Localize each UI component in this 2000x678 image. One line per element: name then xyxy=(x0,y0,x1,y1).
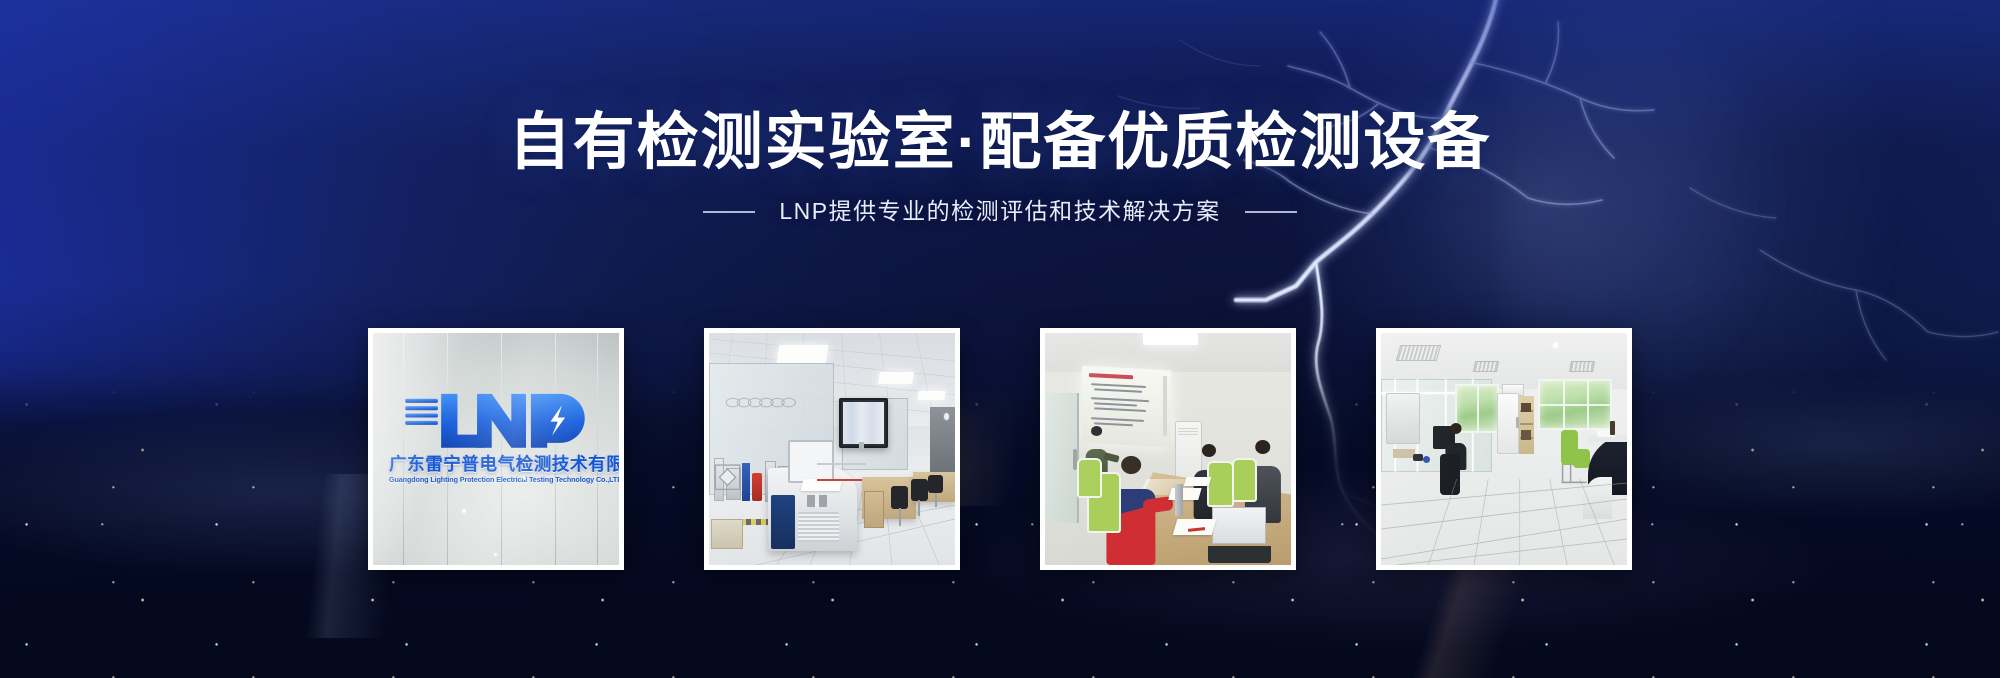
meeting-chair-right xyxy=(1232,458,1257,502)
lab-diamond-fixture-icon xyxy=(714,461,741,493)
photo-testing-laboratory[interactable] xyxy=(704,328,960,570)
lab-trolley xyxy=(711,519,743,549)
laptop-keyboard xyxy=(1208,546,1271,563)
office-floor-grid xyxy=(1381,333,1627,565)
subtitle-row: LNP提供专业的检测评估和技术解决方案 xyxy=(0,200,2000,223)
thermos-cup xyxy=(1175,484,1182,516)
lab-wall-monitor xyxy=(839,398,887,448)
table-document-2 xyxy=(1169,488,1202,500)
lab-chair-2 xyxy=(911,479,928,516)
lab-ceiling-light-3 xyxy=(917,391,946,400)
meeting-ceiling-light xyxy=(1143,333,1197,345)
photo-meeting-room[interactable] xyxy=(1040,328,1296,570)
lab-chair-1 xyxy=(891,486,908,525)
table-document-1 xyxy=(1173,519,1217,535)
sign-wall-sheen xyxy=(373,333,619,565)
photo-meeting-canvas xyxy=(1045,333,1291,565)
lab-ceiling-light-2 xyxy=(878,372,914,384)
photo-office[interactable] xyxy=(1376,328,1632,570)
lab-chair-3 xyxy=(928,475,943,507)
lab-ceiling-light-1 xyxy=(776,345,828,364)
lab-desk-handles xyxy=(807,495,827,507)
photo-company-sign-canvas: 广东雷宁普电气检测技术有限公司 Guangdong Lighting Prote… xyxy=(373,333,619,565)
hero-banner: 自有检测实验室·配备优质检测设备 LNP提供专业的检测评估和技术解决方案 xyxy=(0,0,2000,678)
lab-desk-papers xyxy=(801,479,843,491)
page-title: 自有检测实验室·配备优质检测设备 xyxy=(0,112,2000,174)
laptop-screen xyxy=(1212,507,1266,544)
lab-monitor-screen xyxy=(843,402,883,444)
photo-gallery-strip: 广东雷宁普电气检测技术有限公司 Guangdong Lighting Prote… xyxy=(328,312,1672,554)
ac-vent-icon xyxy=(1178,428,1198,437)
meeting-chair-left xyxy=(1077,458,1102,497)
lab-monitor-mount xyxy=(859,442,864,451)
subtitle-rule-right xyxy=(1245,211,1297,213)
slide-title-bar xyxy=(1089,373,1133,379)
lab-coil-icon xyxy=(719,384,817,421)
photo-office-canvas xyxy=(1381,333,1627,565)
lab-desk-vents xyxy=(798,512,840,542)
headline-block: 自有检测实验室·配备优质检测设备 LNP提供专业的检测评估和技术解决方案 xyxy=(0,112,2000,223)
table-document-3 xyxy=(1184,477,1211,486)
meeting-chair-middle xyxy=(1207,461,1234,507)
lab-control-desk-base xyxy=(771,495,796,548)
photo-lab-canvas xyxy=(709,333,955,565)
subtitle-rule-left xyxy=(703,211,755,213)
lab-bench-drawers xyxy=(864,491,884,528)
lab-safety-rail xyxy=(817,463,866,481)
page-subtitle: LNP提供专业的检测评估和技术解决方案 xyxy=(779,200,1220,223)
photo-company-sign[interactable]: 广东雷宁普电气检测技术有限公司 Guangdong Lighting Prote… xyxy=(368,328,624,570)
laptop-on-table xyxy=(1212,507,1266,563)
